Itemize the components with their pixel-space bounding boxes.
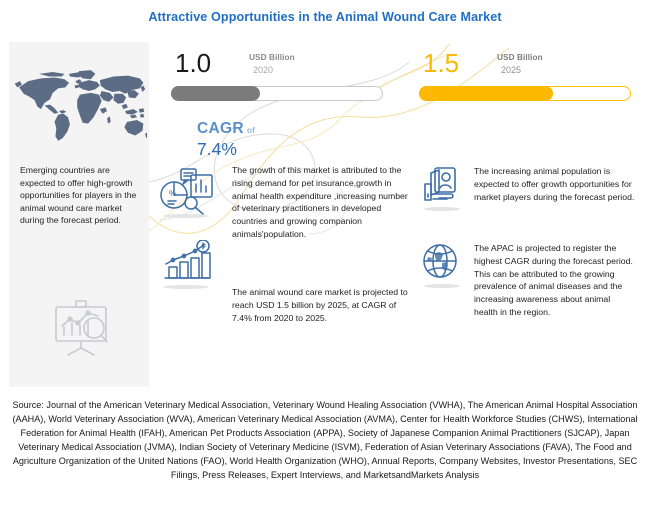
metric-2025-value: 1.5	[423, 48, 459, 78]
market-analysis-pie-chart-icon: %	[157, 165, 215, 215]
insight-text-animal-population: The increasing animal population is expe…	[474, 165, 636, 203]
metric-2025-bar-track	[419, 86, 631, 101]
cagr-label: CAGR	[197, 120, 244, 137]
world-map-icon	[11, 58, 147, 154]
icon-shadow	[163, 214, 208, 218]
metric-2020: 1.0 USD Billion 2020	[161, 50, 393, 114]
growth-bar-chart-dollar-icon	[157, 240, 215, 286]
icon-shadow	[424, 284, 460, 288]
globe-icon	[419, 241, 465, 285]
metric-2020-bar-track	[171, 86, 383, 101]
sidebar-note-text: Emerging countries are expected to offer…	[20, 164, 142, 227]
metric-2020-unit: USD Billion	[249, 53, 295, 62]
metric-2020-bar-fill	[171, 86, 260, 101]
cagr-label-row: CAGRof	[197, 120, 255, 138]
metric-2020-value: 1.0	[175, 48, 211, 78]
cagr-block: CAGRof 7.4%	[197, 120, 255, 160]
metric-2020-year: 2020	[253, 65, 273, 75]
insight-block-projection: The animal wound care market is projecte…	[232, 286, 410, 324]
insight-block-market-growth: The growth of this market is attributed …	[232, 164, 410, 241]
cagr-of-label: of	[247, 125, 255, 135]
hand-holding-documents-icon	[419, 164, 465, 208]
icon-shadow	[163, 285, 208, 289]
world-map-svg	[11, 58, 147, 154]
metric-2025: 1.5 USD Billion 2025	[409, 50, 641, 114]
icon-shadow	[424, 207, 460, 211]
infographic-page: Attractive Opportunities in the Animal W…	[0, 0, 650, 521]
presentation-chart-magnifier-icon	[48, 295, 114, 357]
svg-text:%: %	[169, 189, 176, 198]
insight-text-projection: The animal wound care market is projecte…	[232, 286, 410, 324]
cagr-value: 7.4%	[197, 139, 255, 160]
insight-text-apac: The APAC is projected to register the hi…	[474, 242, 636, 319]
metric-2025-bar-fill	[419, 86, 553, 101]
page-title: Attractive Opportunities in the Animal W…	[0, 8, 650, 26]
metric-2025-unit: USD Billion	[497, 53, 543, 62]
main-panel: Emerging countries are expected to offer…	[9, 42, 641, 387]
insight-text-market-growth: The growth of this market is attributed …	[232, 164, 410, 241]
sidebar: Emerging countries are expected to offer…	[9, 42, 149, 387]
insight-block-apac: The APAC is projected to register the hi…	[474, 242, 636, 319]
metric-2025-year: 2025	[501, 65, 521, 75]
page-title-text: Attractive Opportunities in the Animal W…	[148, 10, 501, 24]
insight-block-animal-population: The increasing animal population is expe…	[474, 165, 636, 203]
source-footnote: Source: Journal of the American Veterina…	[8, 398, 642, 483]
